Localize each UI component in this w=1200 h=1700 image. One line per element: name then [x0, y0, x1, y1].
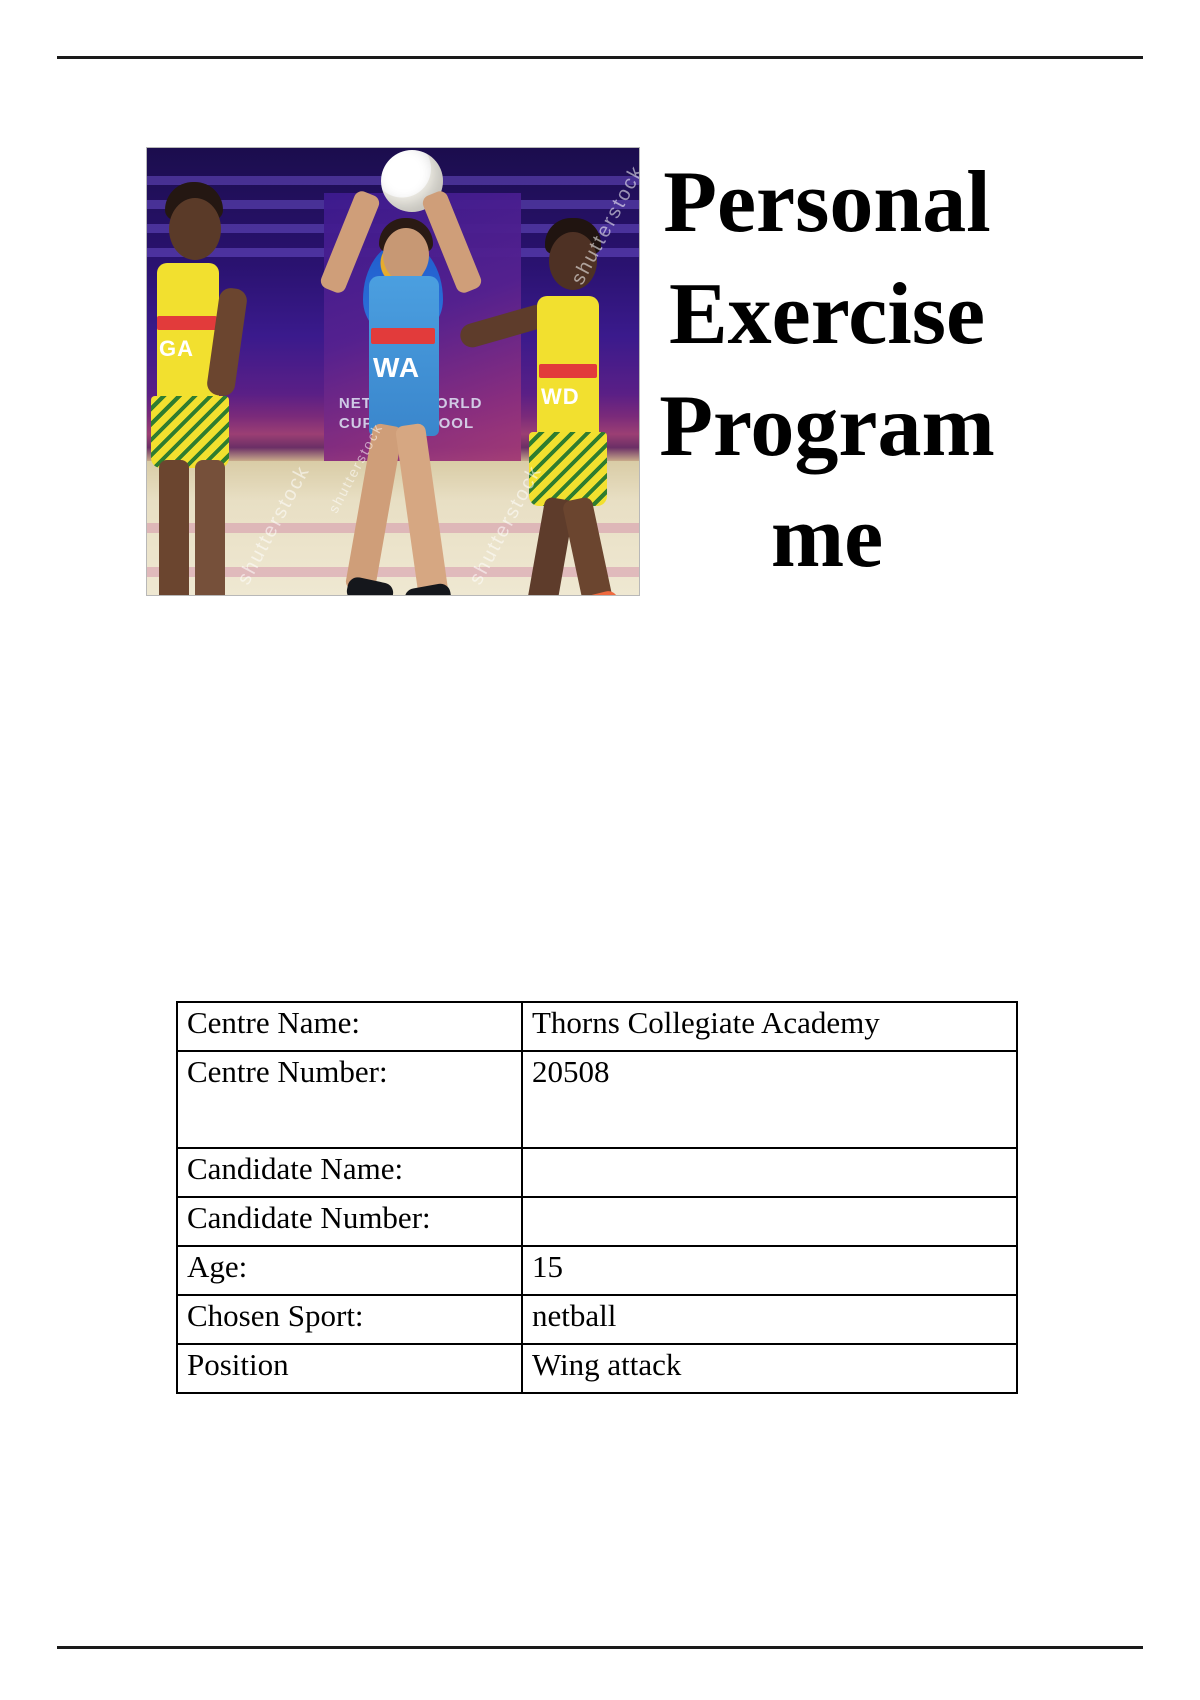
player-skirt: [529, 432, 607, 506]
player-leg: [562, 496, 615, 596]
document-page: NETBALL WORLD CUP LIVERPOOL GA: [0, 0, 1200, 1700]
info-value-cell[interactable]: 20508: [522, 1051, 1017, 1148]
player-ga: GA: [157, 168, 247, 596]
table-row: Age:15: [177, 1246, 1017, 1295]
candidate-info-table: Centre Name:Thorns Collegiate AcademyCen…: [176, 1001, 1018, 1394]
info-value-cell[interactable]: [522, 1148, 1017, 1197]
title-block: NETBALL WORLD CUP LIVERPOOL GA: [146, 147, 1006, 598]
info-value-cell[interactable]: Thorns Collegiate Academy: [522, 1002, 1017, 1051]
netball-match-photo: NETBALL WORLD CUP LIVERPOOL GA: [146, 147, 640, 596]
player-wa: WA: [343, 156, 473, 596]
info-label-cell: Candidate Name:: [177, 1148, 522, 1197]
table-row: Candidate Number:: [177, 1197, 1017, 1246]
table-row: Candidate Name:: [177, 1148, 1017, 1197]
player-bib-label: WD: [541, 384, 580, 410]
info-value-cell[interactable]: [522, 1197, 1017, 1246]
info-value-cell[interactable]: netball: [522, 1295, 1017, 1344]
info-label-cell: Chosen Sport:: [177, 1295, 522, 1344]
table-row: PositionWing attack: [177, 1344, 1017, 1393]
info-value-cell[interactable]: Wing attack: [522, 1344, 1017, 1393]
player-bib-label: GA: [159, 336, 194, 362]
header-rule: [57, 56, 1143, 59]
footer-rule: [57, 1646, 1143, 1649]
info-value-cell[interactable]: 15: [522, 1246, 1017, 1295]
info-table-body: Centre Name:Thorns Collegiate AcademyCen…: [177, 1002, 1017, 1393]
player-wd: WD: [523, 184, 633, 596]
player-leg: [395, 423, 449, 596]
player-leg: [159, 460, 189, 596]
info-label-cell: Candidate Number:: [177, 1197, 522, 1246]
player-bib-band: [371, 328, 435, 344]
player-head: [549, 232, 597, 290]
info-label-cell: Centre Name:: [177, 1002, 522, 1051]
info-label-cell: Position: [177, 1344, 522, 1393]
table-row: Centre Number:20508: [177, 1051, 1017, 1148]
info-label-cell: Centre Number:: [177, 1051, 522, 1148]
player-bib-label: WA: [373, 352, 420, 384]
player-bib-band: [539, 364, 597, 378]
player-skirt: [151, 396, 229, 468]
player-bib-band: [157, 316, 217, 330]
table-row: Chosen Sport:netball: [177, 1295, 1017, 1344]
table-row: Centre Name:Thorns Collegiate Academy: [177, 1002, 1017, 1051]
player-leg: [195, 460, 225, 596]
player-leg: [345, 423, 404, 594]
player-head: [383, 228, 429, 282]
info-label-cell: Age:: [177, 1246, 522, 1295]
player-head: [169, 198, 221, 260]
